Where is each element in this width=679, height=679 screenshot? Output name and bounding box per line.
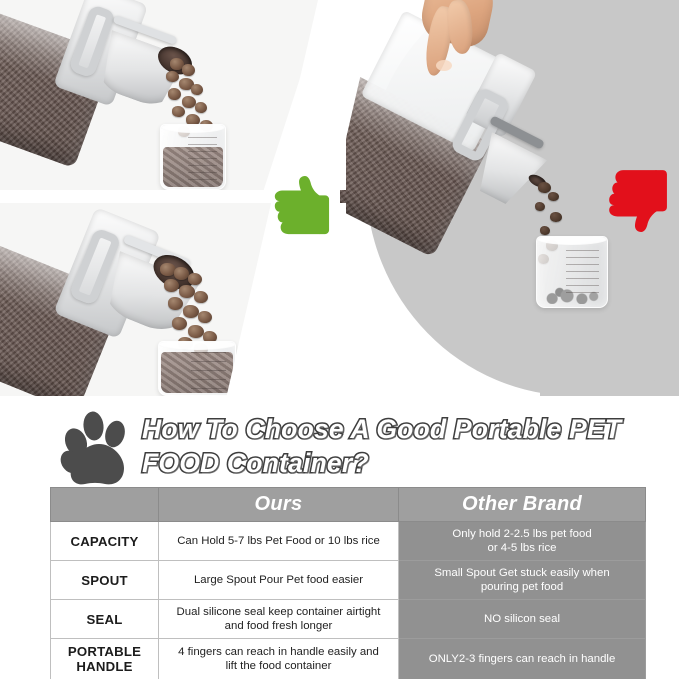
row-ours-portable-handle: 4 fingers can reach in handle easily and… [159, 639, 399, 679]
thumbs-down-icon [602, 168, 670, 234]
row-feature-portable-handle: PORTABLE HANDLE [51, 639, 159, 679]
row-other-portable-handle: ONLY2-3 fingers can reach in handle [399, 639, 646, 679]
row-other-seal: NO silicon seal [399, 600, 646, 639]
table-row: CAPACITY Can Hold 5-7 lbs Pet Food or 10… [51, 522, 646, 561]
other-brand-measuring-cup [536, 236, 608, 308]
thumbs-up-icon [258, 174, 342, 236]
table-row: SEAL Dual silicone seal keep container a… [51, 600, 646, 639]
infographic-page: How To Choose A Good Portable PET FOOD C… [0, 0, 679, 679]
row-feature-capacity: CAPACITY [51, 522, 159, 561]
cup-rim [158, 341, 236, 350]
cup-measurement-marks [188, 137, 217, 182]
cup-rim [160, 124, 226, 133]
cup-rim [536, 236, 608, 245]
page-title: How To Choose A Good Portable PET FOOD C… [142, 412, 662, 480]
comparison-table: Ours Other Brand CAPACITY Can Hold 5-7 l… [50, 487, 646, 679]
other-brand-photo-panel [340, 0, 679, 396]
row-ours-capacity: Can Hold 5-7 lbs Pet Food or 10 lbs rice [159, 522, 399, 561]
photo-comparison-section [0, 0, 679, 396]
fingernail [436, 60, 452, 71]
cup-measurement-marks [566, 250, 598, 299]
header-feature-column [51, 488, 159, 522]
row-other-spout: Small Spout Get stuck easily when pourin… [399, 561, 646, 600]
cup-measurement-marks [191, 352, 226, 389]
header-other-brand: Other Brand [399, 488, 646, 522]
ours-measuring-cup-top [160, 124, 226, 190]
table-row: PORTABLE HANDLE 4 fingers can reach in h… [51, 639, 646, 679]
row-ours-seal: Dual silicone seal keep container airtig… [159, 600, 399, 639]
paw-print-icon [58, 410, 138, 488]
row-other-capacity: Only hold 2-2.5 lbs pet food or 4-5 lbs … [399, 522, 646, 561]
row-feature-spout: SPOUT [51, 561, 159, 600]
ours-measuring-cup-bottom [158, 341, 236, 396]
row-ours-spout: Large Spout Pour Pet food easier [159, 561, 399, 600]
header-ours: Ours [159, 488, 399, 522]
table-header-row: Ours Other Brand [51, 488, 646, 522]
row-feature-seal: SEAL [51, 600, 159, 639]
table-row: SPOUT Large Spout Pour Pet food easier S… [51, 561, 646, 600]
